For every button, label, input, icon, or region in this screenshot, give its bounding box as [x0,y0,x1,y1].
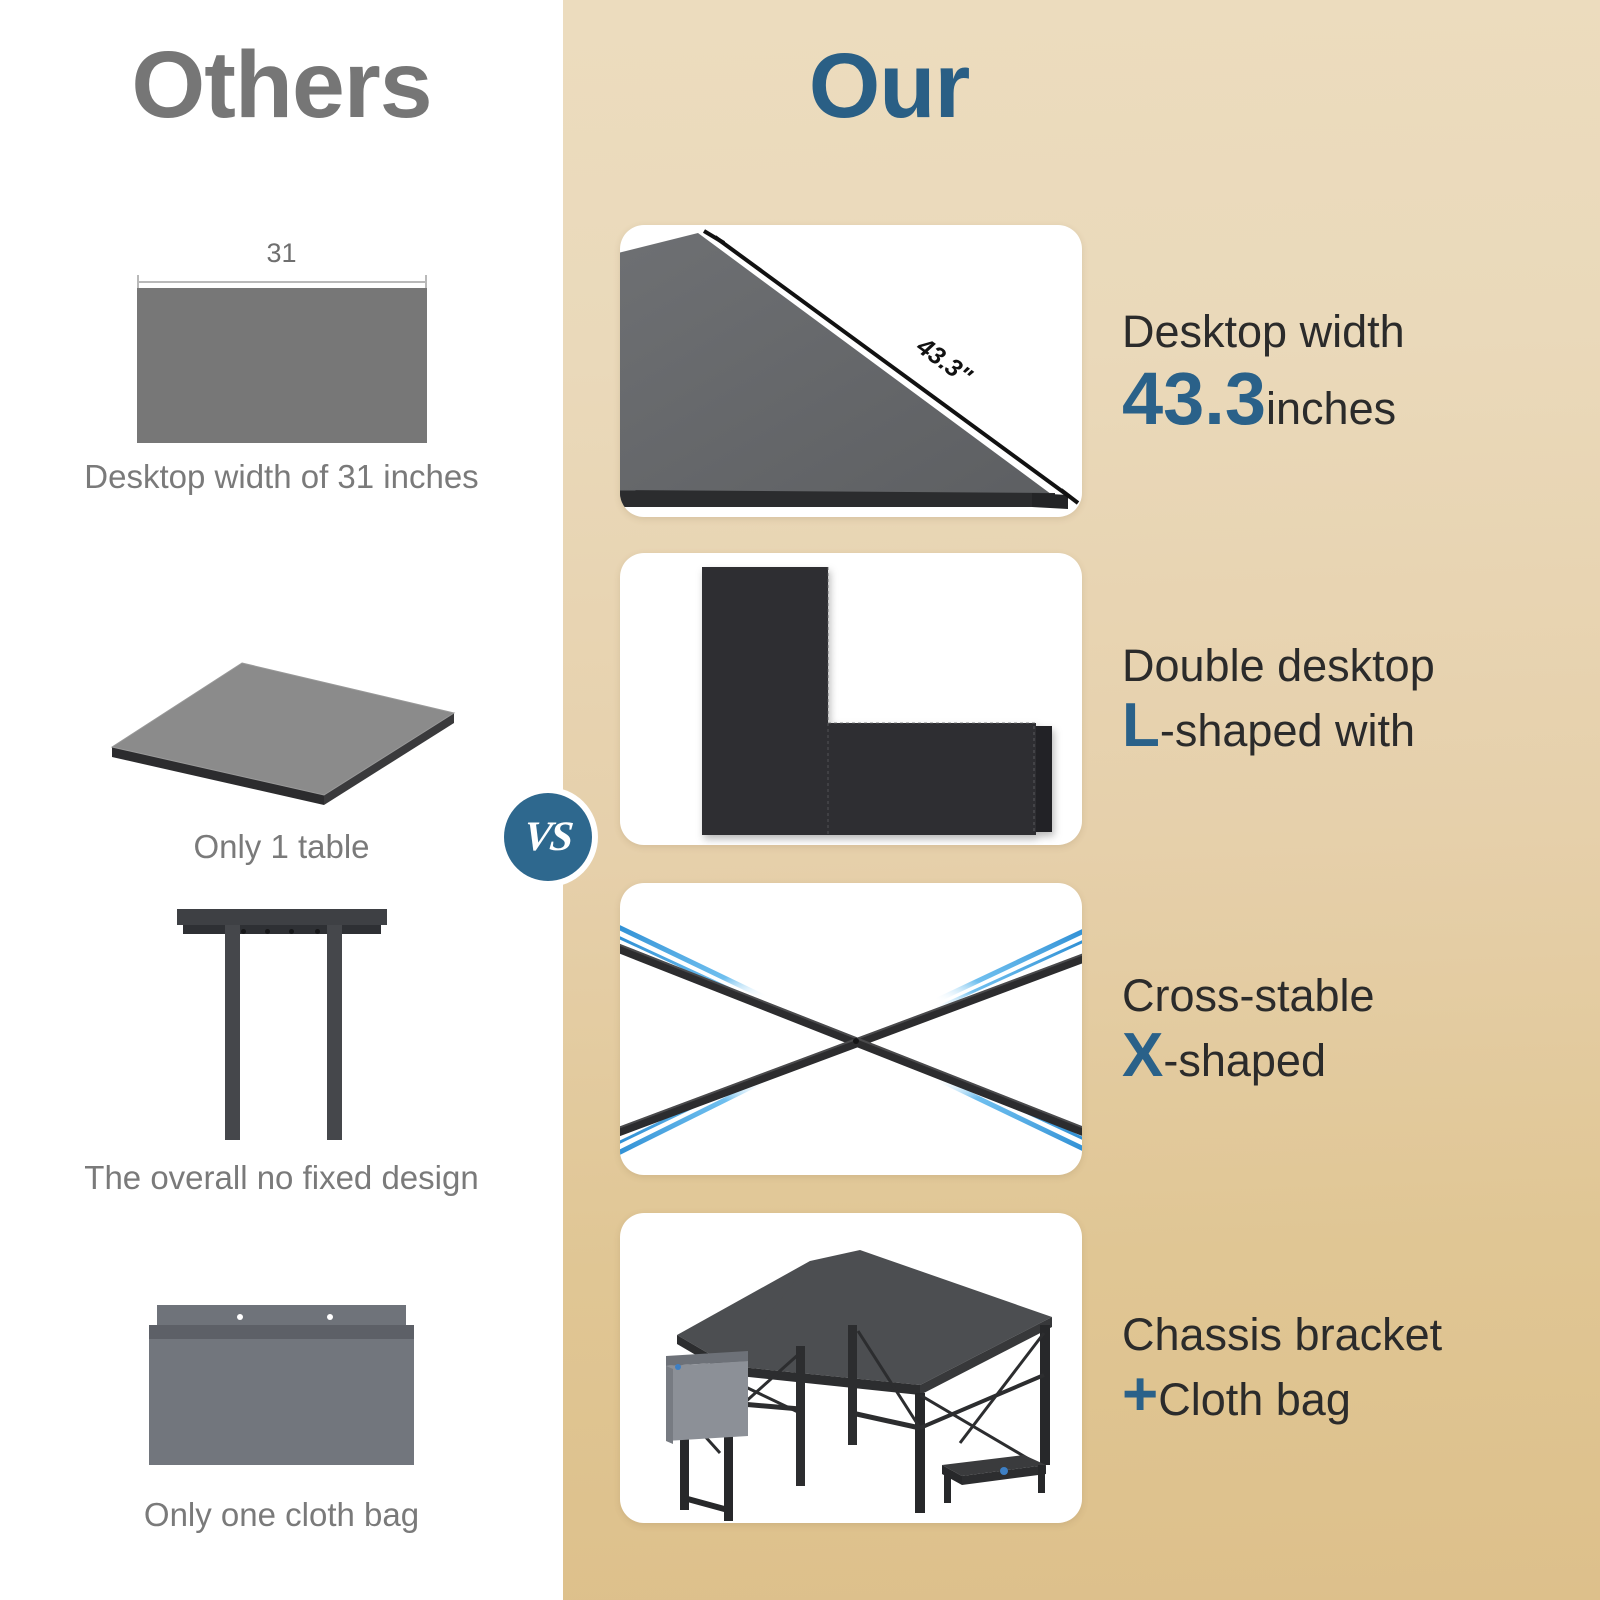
desktop-width-perspective-art: 43.3" [620,225,1082,517]
desktop-rectangle-shape [137,288,427,443]
feature-text-chassis-bracket: Chassis bracket +Cloth bag [1122,1309,1542,1428]
x-shaped-cross-brace-art [620,883,1082,1175]
our-dimension-label: 43.3" [911,332,978,391]
vs-badge: VS [504,793,592,881]
feature-line1: Chassis bracket [1122,1309,1542,1361]
others-caption-3: The overall no fixed design [0,1158,563,1198]
feature-line1: Double desktop [1122,640,1542,692]
feature-line2: X-shaped [1122,1025,1542,1088]
feature-text-cross-stable: Cross-stable X-shaped [1122,970,1542,1089]
vs-badge-label: VS [522,813,574,861]
dimension-line-icon [137,275,427,288]
single-cloth-bag-art [149,1305,414,1465]
feature-text-desktop-width: Desktop width 43.3inches [1122,306,1542,436]
l-shaped-double-desktop-art [620,553,1082,845]
others-item-cloth-bag: Only one cloth bag [0,1305,563,1535]
feature-line2: 43.3inches [1122,362,1542,436]
feature-shape-letter: L [1122,691,1160,760]
our-heading: Our [563,38,1600,135]
feature-text-double-desktop: Double desktop L-shaped with [1122,640,1542,759]
feature-line2: +Cloth bag [1122,1364,1542,1427]
feature-plus-icon: + [1122,1360,1158,1429]
full-l-desk-art [620,1213,1082,1523]
our-panel: Our 43.3" [563,0,1600,1600]
others-dimension-label: 31 [137,240,427,267]
our-item-double-desktop: Double desktop L-shaped with [563,553,1600,845]
others-caption-4: Only one cloth bag [0,1495,563,1535]
card-cross-stable [620,883,1082,1175]
card-double-desktop [620,553,1082,845]
feature-line1: Cross-stable [1122,970,1542,1022]
others-caption-2: Only 1 table [0,827,563,867]
others-item-no-fixed-design: The overall no fixed design [0,895,563,1198]
feature-shape-suffix: -shaped [1163,1035,1326,1086]
feature-shape-letter: X [1122,1021,1163,1090]
others-item-single-table: Only 1 table [0,655,563,867]
our-item-cross-stable: Cross-stable X-shaped [563,883,1600,1175]
others-panel: Others 31 Desktop width of 31 inches [0,0,563,1600]
single-tabletop-3d-art [0,655,563,805]
others-heading: Others [0,36,563,136]
infographic-root: Others 31 Desktop width of 31 inches [0,0,1600,1600]
flat-rectangle-desktop-art: 31 [0,240,563,443]
unbraced-leg-frame-art [177,895,387,1140]
our-item-chassis-bracket: Chassis bracket +Cloth bag [563,1213,1600,1523]
card-chassis-bracket [620,1213,1082,1523]
feature-value: 43.3 [1122,357,1266,440]
feature-shape-suffix: -shaped with [1160,705,1415,756]
feature-line1: Desktop width [1122,306,1542,358]
others-caption-1: Desktop width of 31 inches [0,457,563,497]
feature-unit: inches [1266,383,1396,434]
feature-line2: L-shaped with [1122,695,1542,758]
card-desktop-width: 43.3" [620,225,1082,517]
our-item-desktop-width: 43.3" Desktop width 43.3inches [563,225,1600,517]
others-item-desktop-width: 31 Desktop width of 31 inches [0,240,563,497]
feature-shape-suffix: Cloth bag [1158,1374,1351,1425]
